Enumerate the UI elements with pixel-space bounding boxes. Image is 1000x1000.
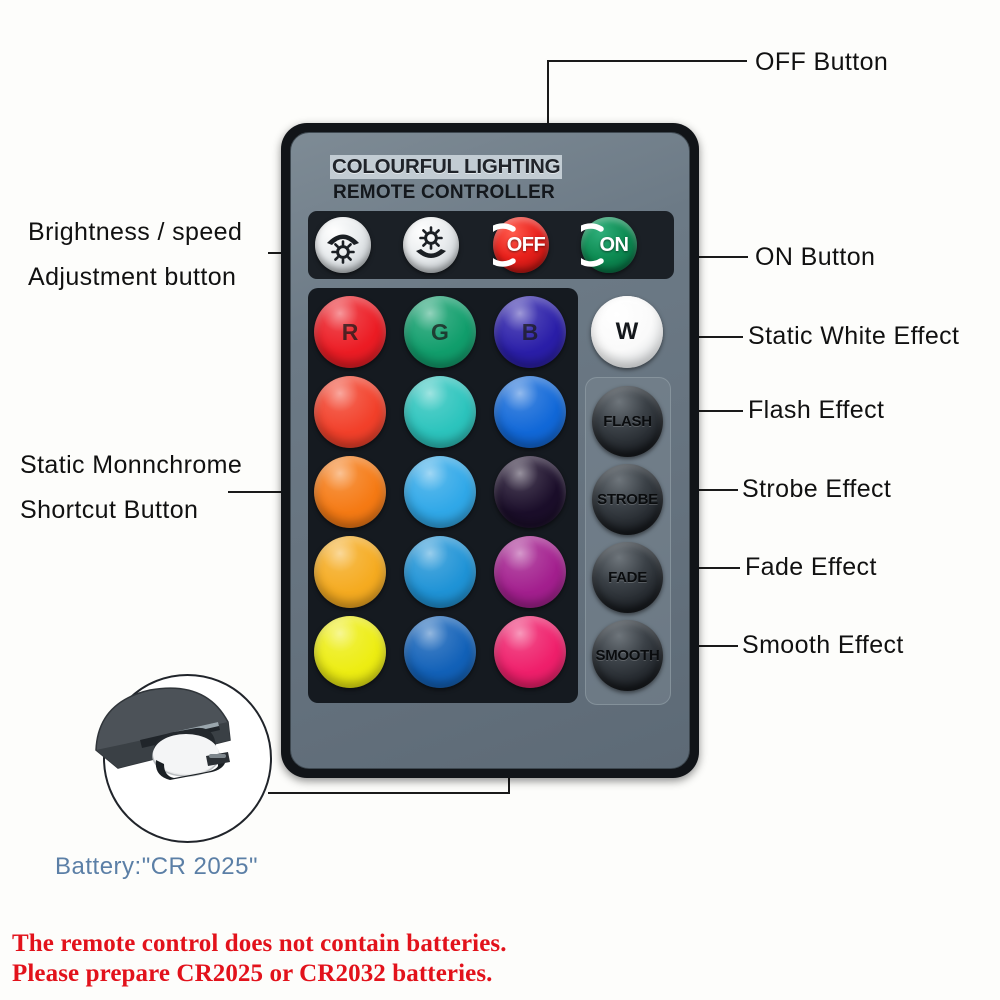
- callout-monochrome-line2: Shortcut Button: [20, 488, 242, 533]
- color-button[interactable]: [494, 536, 566, 608]
- remote-face: COLOURFUL LIGHTING REMOTE CONTROLLER: [290, 132, 690, 769]
- color-button[interactable]: [314, 376, 386, 448]
- color-button[interactable]: [314, 536, 386, 608]
- color-button[interactable]: R: [314, 296, 386, 368]
- brightness-down-button[interactable]: [403, 217, 459, 273]
- color-button[interactable]: [314, 616, 386, 688]
- color-button[interactable]: [404, 376, 476, 448]
- white-color-button[interactable]: W: [591, 296, 663, 368]
- callout-strobe-effect: Strobe Effect: [742, 475, 891, 504]
- brand-subtitle: REMOTE CONTROLLER: [333, 182, 555, 204]
- battery-illustration: [78, 664, 288, 844]
- callout-brightness-line1: Brightness / speed: [28, 210, 242, 255]
- flash-button[interactable]: FLASH: [592, 386, 663, 457]
- color-button[interactable]: [404, 456, 476, 528]
- color-keypad: R G B: [308, 288, 578, 703]
- smooth-button[interactable]: SMOOTH: [592, 620, 663, 691]
- color-button[interactable]: [494, 616, 566, 688]
- on-button-label: ON: [600, 234, 629, 257]
- effect-button-column: FLASH STROBE FADE SMOOTH: [585, 377, 671, 705]
- color-button[interactable]: B: [494, 296, 566, 368]
- flash-button-label: FLASH: [603, 413, 652, 430]
- leader-line-battery-horizontal: [268, 792, 510, 794]
- callout-brightness-line2: Adjustment button: [28, 255, 242, 300]
- sun-down-icon: [410, 224, 452, 266]
- off-button[interactable]: OFF: [493, 217, 549, 273]
- callout-on-button: ON Button: [755, 243, 875, 272]
- strobe-button-label: STROBE: [597, 491, 658, 508]
- remote-control-body: COLOURFUL LIGHTING REMOTE CONTROLLER: [281, 123, 699, 778]
- callout-off-button: OFF Button: [755, 48, 888, 77]
- warning-line-1: The remote control does not contain batt…: [12, 930, 507, 958]
- color-button[interactable]: G: [404, 296, 476, 368]
- fade-button-label: FADE: [608, 569, 647, 586]
- callout-brightness-speed: Brightness / speed Adjustment button: [28, 210, 242, 300]
- off-button-label: OFF: [507, 234, 546, 257]
- brightness-up-button[interactable]: [315, 217, 371, 273]
- color-button[interactable]: [494, 376, 566, 448]
- battery-tray-graphic: [78, 664, 288, 844]
- color-button-label: B: [522, 319, 539, 346]
- top-button-row: OFF ON: [308, 211, 674, 279]
- color-button-label: R: [342, 319, 359, 346]
- product-diagram: Brightness / speed Adjustment button Sta…: [0, 0, 1000, 1000]
- color-button[interactable]: [494, 456, 566, 528]
- color-button[interactable]: [404, 536, 476, 608]
- color-button-label: G: [431, 319, 449, 346]
- warning-line-2: Please prepare CR2025 or CR2032 batterie…: [12, 960, 493, 988]
- color-button[interactable]: [314, 456, 386, 528]
- callout-flash-effect: Flash Effect: [748, 396, 884, 425]
- callout-static-white-effect: Static White Effect: [748, 322, 959, 351]
- battery-caption: Battery:"CR 2025": [55, 853, 258, 881]
- on-button[interactable]: ON: [581, 217, 637, 273]
- callout-fade-effect: Fade Effect: [745, 553, 877, 582]
- sun-up-icon: [322, 224, 364, 266]
- color-button[interactable]: [404, 616, 476, 688]
- callout-smooth-effect: Smooth Effect: [742, 631, 904, 660]
- strobe-button[interactable]: STROBE: [592, 464, 663, 535]
- callout-static-monochrome: Static Monnchrome Shortcut Button: [20, 443, 242, 533]
- leader-line-off-horizontal: [547, 60, 747, 62]
- fade-button[interactable]: FADE: [592, 542, 663, 613]
- white-button-label: W: [616, 318, 639, 346]
- callout-monochrome-line1: Static Monnchrome: [20, 443, 242, 488]
- brand-title: COLOURFUL LIGHTING: [330, 155, 562, 179]
- smooth-button-label: SMOOTH: [595, 647, 659, 664]
